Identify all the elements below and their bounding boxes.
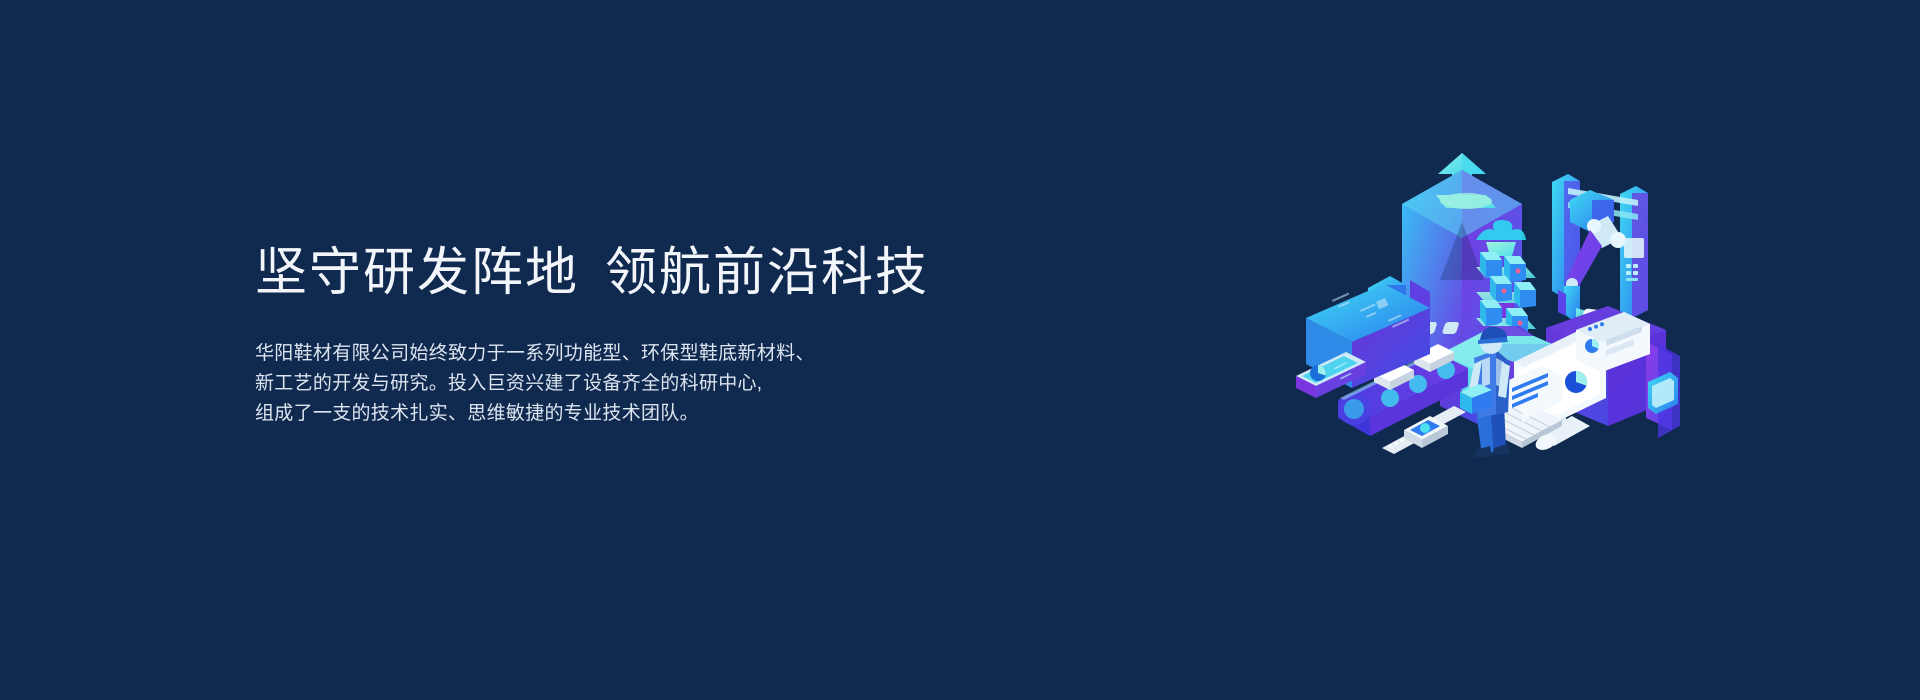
- shelf-box: [1480, 252, 1502, 278]
- shelf-box: [1480, 300, 1502, 326]
- shelf-box: [1514, 282, 1536, 308]
- headline-segment-1: 坚守研发阵地: [255, 244, 579, 302]
- hero-text-block: 坚守研发阵地领航前沿科技 华阳鞋材有限公司始终致力于一系列功能型、环保型鞋底新材…: [255, 240, 1075, 429]
- headline-segment-2: 领航前沿科技: [605, 244, 929, 302]
- page-title: 坚守研发阵地领航前沿科技: [255, 240, 1075, 306]
- hero-banner: 坚守研发阵地领航前沿科技 华阳鞋材有限公司始终致力于一系列功能型、环保型鞋底新材…: [0, 0, 1920, 700]
- hero-description-line-1: 华阳鞋材有限公司始终致力于一系列功能型、环保型鞋底新材料、: [255, 339, 1075, 369]
- hero-description-line-3: 组成了一支的技术扎实、思维敏捷的专业技术团队。: [255, 399, 1075, 429]
- shelf-box: [1490, 276, 1512, 302]
- hero-description-line-2: 新工艺的开发与研究。投入巨资兴建了设备齐全的科研中心,: [255, 369, 1075, 399]
- isometric-smart-factory-illustration: [1290, 130, 1690, 460]
- hero-description: 华阳鞋材有限公司始终致力于一系列功能型、环保型鞋底新材料、 新工艺的开发与研究。…: [255, 306, 1075, 429]
